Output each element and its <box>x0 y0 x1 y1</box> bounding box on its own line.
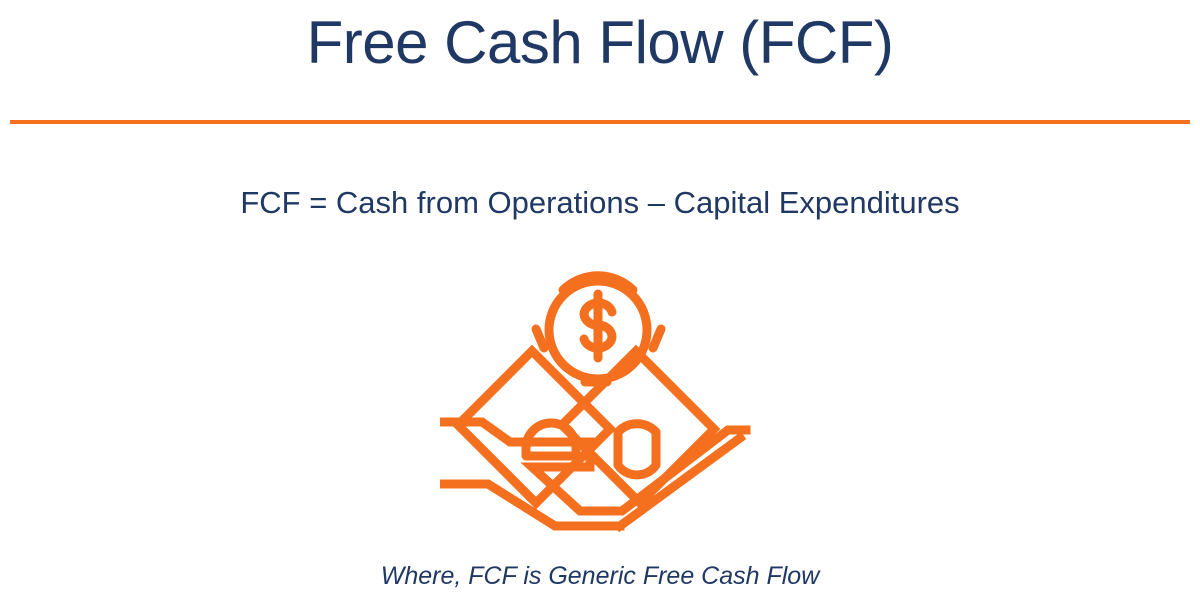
shine-tick-left <box>536 329 544 348</box>
shine-tick-right <box>653 329 661 348</box>
page-title: Free Cash Flow (FCF) <box>0 8 1200 79</box>
hand-wrist-edge <box>620 438 740 526</box>
orange-rule-divider <box>10 120 1190 124</box>
coin-oval-right <box>618 424 656 475</box>
hand-holding-cash-with-dollar-coin-icon <box>440 262 760 540</box>
slide-canvas: Free Cash Flow (FCF) FCF = Cash from Ope… <box>0 0 1200 600</box>
caption-text: Where, FCF is Generic Free Cash Flow <box>0 560 1200 593</box>
formula-text: FCF = Cash from Operations – Capital Exp… <box>0 184 1200 223</box>
hand-lower-edge <box>440 484 620 526</box>
